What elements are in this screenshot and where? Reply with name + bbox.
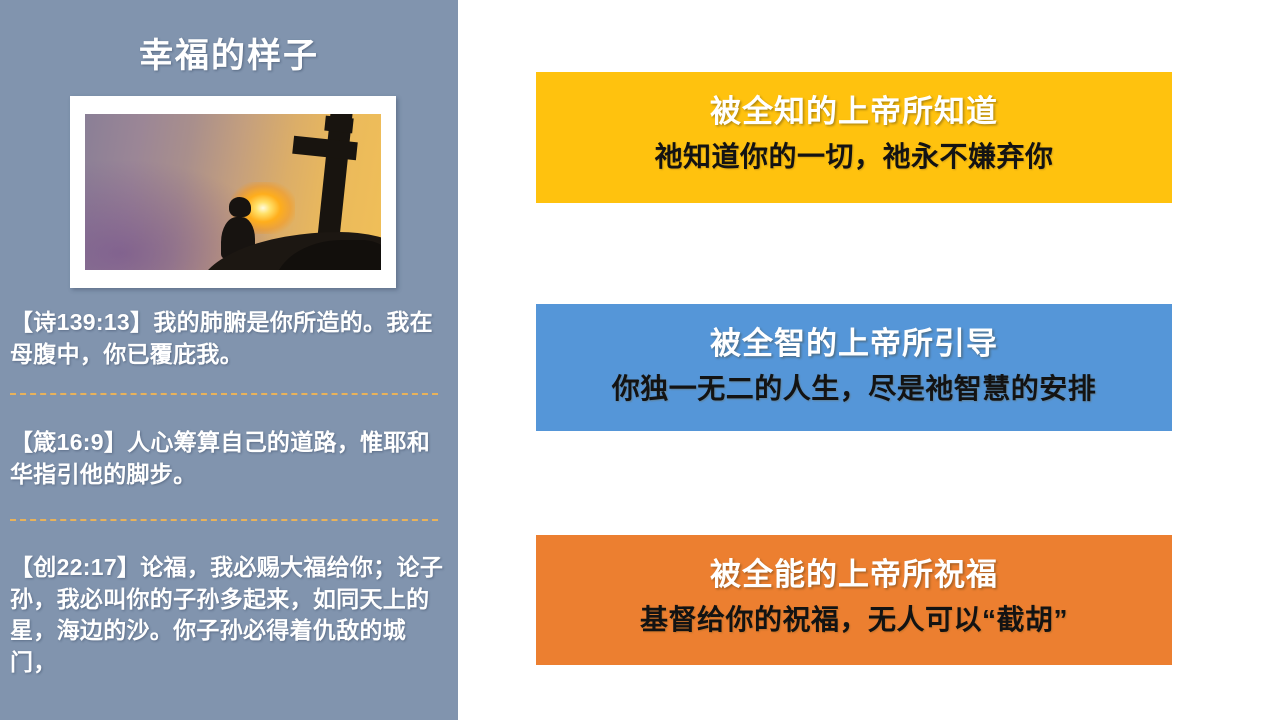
scripture-verse: 【诗139:13】我的肺腑是你所造的。我在母腹中，你已覆庇我。 — [10, 307, 446, 370]
panel-heading: 被全能的上帝所祝福 — [536, 556, 1172, 595]
panel-subtitle: 你独一无二的人生，尽是祂智慧的安排 — [536, 371, 1172, 407]
content-panel-blessing: 被全能的上帝所祝福 基督给你的祝福，无人可以“截胡” — [536, 535, 1172, 665]
scripture-verse: 【箴16:9】人心筹算自己的道路，惟耶和华指引他的脚步。 — [10, 427, 446, 490]
panel-subtitle: 基督给你的祝福，无人可以“截胡” — [536, 602, 1172, 638]
verse-divider — [10, 393, 438, 395]
person-silhouette-head — [229, 197, 251, 217]
panel-subtitle: 祂知道你的一切，祂永不嫌弃你 — [536, 139, 1172, 175]
presentation-slide: 幸福的样子 【诗139:13】我的肺腑是你所造的。我在母腹中，你已覆庇我。 【箴… — [0, 0, 1280, 720]
photo-frame — [70, 96, 396, 288]
sidebar-panel: 幸福的样子 【诗139:13】我的肺腑是你所造的。我在母腹中，你已覆庇我。 【箴… — [0, 0, 458, 720]
panel-heading: 被全智的上帝所引导 — [536, 325, 1172, 364]
panel-heading: 被全知的上帝所知道 — [536, 93, 1172, 132]
content-panel-guidance: 被全智的上帝所引导 你独一无二的人生，尽是祂智慧的安排 — [536, 304, 1172, 431]
content-panel-knowledge: 被全知的上帝所知道 祂知道你的一切，祂永不嫌弃你 — [536, 72, 1172, 203]
scripture-verse: 【创22:17】论福，我必赐大福给你；论子孙，我必叫你的子孙多起来，如同天上的星… — [10, 552, 446, 679]
verse-divider — [10, 519, 438, 521]
cross-top-beam — [324, 116, 353, 134]
cross-sunset-photo — [85, 114, 381, 270]
page-title: 幸福的样子 — [0, 36, 458, 77]
